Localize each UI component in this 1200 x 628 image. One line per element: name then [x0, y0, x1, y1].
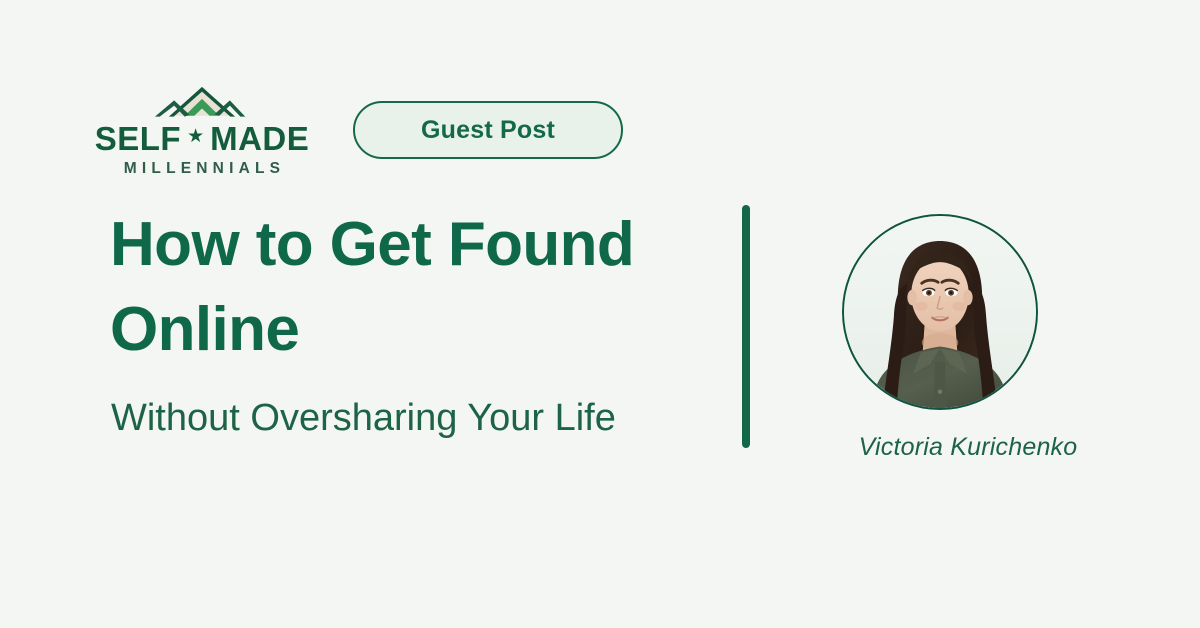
avatar [842, 214, 1038, 410]
promo-banner: SELF ★ MADE MILLENNIALS Guest Post How t… [0, 0, 1200, 628]
guest-post-badge[interactable]: Guest Post [353, 101, 623, 159]
logo-wordmark: SELF ★ MADE [95, 122, 310, 155]
headline-line-1: How to Get Found [110, 203, 730, 288]
logo-word-self: SELF [95, 122, 181, 155]
vertical-divider [742, 205, 750, 448]
mountain-logo-icon [127, 84, 277, 121]
page-title: How to Get Found Online [110, 203, 730, 373]
avatar-ring [842, 214, 1038, 410]
star-icon: ★ [187, 127, 204, 146]
logo-word-made: MADE [210, 122, 309, 155]
self-made-millennials-logo: SELF ★ MADE MILLENNIALS [104, 84, 300, 176]
author-name: Victoria Kurichenko [843, 433, 1093, 462]
portrait-illustration [844, 216, 1036, 408]
guest-post-label: Guest Post [421, 116, 555, 145]
logo-subtitle: MILLENNIALS [119, 161, 285, 177]
author-photo [844, 216, 1036, 408]
headline-line-2: Online [110, 288, 730, 373]
banner-header: SELF ★ MADE MILLENNIALS Guest Post [104, 84, 623, 176]
page-subtitle: Without Oversharing Your Life [111, 396, 751, 442]
